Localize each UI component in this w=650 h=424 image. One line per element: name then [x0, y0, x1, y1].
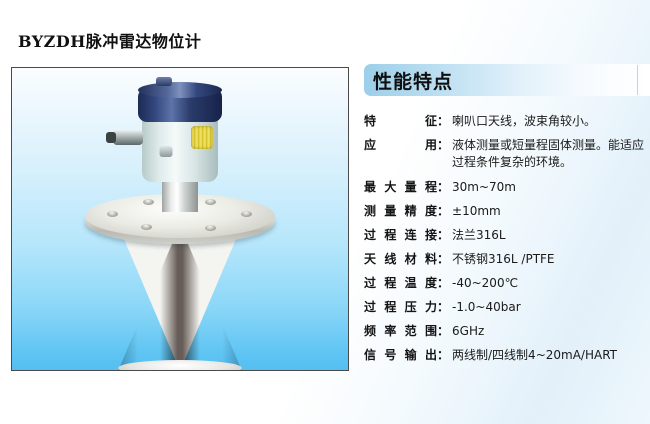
horn-antenna-rim [118, 360, 242, 371]
secondary-port [160, 146, 173, 157]
flange-bolt [143, 199, 154, 205]
spec-colon: ： [437, 113, 449, 130]
spec-row: 频率范围 ： 6GHz [364, 323, 650, 340]
spec-row: 信号输出 ： 两线制/四线制4~20mA/HART [364, 347, 650, 364]
flange-bolt [205, 225, 216, 231]
spec-row: 应用 ： 液体测量或短量程固体测量。能适应过程条件复杂的环境。 [364, 137, 650, 171]
section-banner: 性能特点 [364, 64, 650, 96]
spec-label: 测量精度 [364, 203, 437, 220]
spec-colon: ： [437, 179, 449, 196]
spec-row: 过程温度 ： -40~200℃ [364, 275, 650, 292]
yellow-cable-gland [191, 126, 213, 149]
spec-label: 过程压力 [364, 299, 437, 316]
spec-row: 特征 ： 喇叭口天线，波束角较小。 [364, 113, 650, 130]
grey-cable-gland [113, 130, 143, 145]
flange-bolt [141, 224, 152, 230]
flange-bolt [205, 199, 216, 205]
flange-bolt [241, 211, 252, 217]
spec-value: 不锈钢316L /PTFE [449, 251, 650, 268]
spec-colon: ： [437, 347, 449, 364]
spec-label: 频率范围 [364, 323, 437, 340]
spec-value: 液体测量或短量程固体测量。能适应过程条件复杂的环境。 [449, 137, 650, 171]
page-title: BYZDH脉冲雷达物位计 [18, 28, 201, 52]
spec-label: 天线材料 [364, 251, 437, 268]
spec-value: -1.0~40bar [449, 299, 650, 316]
spec-value: -40~200℃ [449, 275, 650, 292]
spec-row: 天线材料 ： 不锈钢316L /PTFE [364, 251, 650, 268]
spec-colon: ： [437, 251, 449, 268]
spec-value: 法兰316L [449, 227, 650, 244]
spec-label: 过程温度 [364, 275, 437, 292]
spec-colon: ： [437, 299, 449, 316]
spec-colon: ： [437, 137, 449, 154]
specification-panel: 性能特点 特征 ： 喇叭口天线，波束角较小。 应用 ： 液体测量或短量程固体测量… [364, 64, 650, 371]
spec-colon: ： [437, 203, 449, 220]
spec-row: 过程压力 ： -1.0~40bar [364, 299, 650, 316]
spec-colon: ： [437, 323, 449, 340]
spec-row: 最大量程 ： 30m~70m [364, 179, 650, 196]
banner-end-divider [637, 65, 638, 95]
spec-label: 最大量程 [364, 179, 437, 196]
specification-list: 特征 ： 喇叭口天线，波束角较小。 应用 ： 液体测量或短量程固体测量。能适应过… [364, 113, 650, 364]
section-title: 性能特点 [364, 67, 453, 94]
transmitter-cap-tab [156, 77, 172, 86]
radar-level-meter-illustration [12, 68, 348, 370]
spec-row: 测量精度 ： ±10mm [364, 203, 650, 220]
spec-label: 过程连接 [364, 227, 437, 244]
product-photo [11, 67, 349, 371]
spec-colon: ： [437, 227, 449, 244]
spec-value: 30m~70m [449, 179, 650, 196]
transmitter-cap-top [138, 82, 222, 98]
spec-value: 喇叭口天线，波束角较小。 [449, 113, 650, 130]
spec-label: 特征 [364, 113, 437, 130]
spec-value: ±10mm [449, 203, 650, 220]
spec-label: 应用 [364, 137, 437, 154]
spec-value: 6GHz [449, 323, 650, 340]
spec-value: 两线制/四线制4~20mA/HART [449, 347, 650, 364]
spec-row: 过程连接 ： 法兰316L [364, 227, 650, 244]
spec-colon: ： [437, 275, 449, 292]
spec-label: 信号输出 [364, 347, 437, 364]
flange-bolt [107, 211, 118, 217]
